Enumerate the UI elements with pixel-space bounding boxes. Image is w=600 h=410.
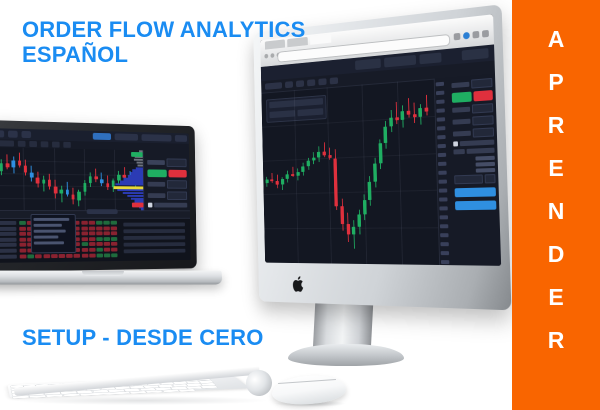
- imac-trading-app: [261, 44, 501, 265]
- candle-body: [312, 157, 315, 161]
- candle-body: [54, 187, 57, 194]
- candlestick: [373, 158, 377, 187]
- candlestick: [106, 175, 110, 190]
- candle-body: [352, 227, 355, 234]
- aprender-letter-3: R: [512, 114, 600, 137]
- candle-body: [307, 161, 310, 166]
- dom-cell: [19, 232, 26, 236]
- candle-body: [36, 178, 40, 184]
- poster-canvas: ORDER FLOW ANALYTICS ESPAÑOL SETUP - DES…: [0, 0, 600, 410]
- price-axis-tick: [439, 206, 447, 210]
- buy-button[interactable]: [452, 92, 472, 103]
- dom-cell: [89, 226, 95, 230]
- candlestick: [30, 165, 34, 181]
- candle-body: [419, 108, 423, 117]
- candlestick: [322, 143, 326, 157]
- price-axis-tick: [439, 180, 447, 184]
- candle-wick: [292, 167, 293, 177]
- candlestick: [265, 176, 268, 186]
- price-axis-tick: [440, 224, 448, 228]
- candlestick: [389, 110, 393, 132]
- price-axis-tick: [440, 215, 448, 219]
- dom-row-label: [0, 249, 17, 253]
- dom-cell: [96, 242, 102, 246]
- dom-row-label: [0, 254, 17, 258]
- aprender-letter-5: N: [512, 200, 600, 223]
- dom-cell: [111, 237, 117, 241]
- candle-body: [328, 155, 331, 159]
- dom-cell: [104, 221, 110, 225]
- candle-body: [18, 161, 22, 165]
- aprender-letter-6: D: [512, 243, 600, 266]
- dom-cell: [89, 242, 95, 246]
- candle-wick: [353, 220, 355, 249]
- dom-cell: [97, 253, 103, 257]
- apple-logo-icon: [293, 275, 306, 293]
- candlestick: [89, 172, 93, 187]
- candlestick: [6, 155, 10, 169]
- candlestick: [18, 153, 22, 167]
- candlestick: [94, 168, 98, 182]
- chart-gridline: [263, 153, 437, 161]
- laptop-lid: [0, 120, 197, 272]
- price-axis-tick: [437, 144, 445, 148]
- dom-cell: [104, 226, 110, 230]
- keyboard-key[interactable]: [30, 395, 46, 398]
- candle-body: [296, 172, 299, 176]
- candlestick: [36, 171, 40, 187]
- headline-secondary: SETUP - DESDE CERO: [22, 326, 264, 351]
- candlestick: [270, 173, 273, 183]
- candlestick: [312, 152, 315, 164]
- imac-order-ticket[interactable]: [266, 95, 327, 123]
- dom-cell: [20, 254, 27, 258]
- candle-wick: [408, 98, 409, 118]
- price-axis-tick: [436, 99, 444, 104]
- candlestick: [60, 186, 64, 202]
- imac-candlestick-chart: [261, 79, 440, 265]
- candlestick: [77, 190, 81, 206]
- dom-cell: [111, 253, 117, 257]
- dom-cell: [51, 254, 58, 258]
- candlestick: [418, 104, 422, 125]
- dom-cell: [111, 226, 117, 230]
- chart-gridline: [23, 148, 25, 211]
- dom-cell: [89, 237, 95, 241]
- keyboard-key[interactable]: [130, 391, 147, 394]
- candlestick: [12, 157, 16, 173]
- candle-body: [395, 117, 399, 121]
- candlestick: [395, 102, 399, 124]
- candlestick: [368, 176, 372, 205]
- dom-cell: [19, 226, 26, 230]
- order-list-row: [124, 242, 186, 246]
- candle-body: [72, 195, 75, 200]
- dom-cell: [59, 254, 66, 258]
- volume-profile-poc-line: [114, 186, 144, 189]
- keyboard-key[interactable]: [46, 394, 62, 397]
- candlestick: [54, 180, 58, 198]
- chart-gridline: [264, 190, 438, 195]
- candlestick: [301, 163, 304, 175]
- candle-body: [48, 180, 52, 187]
- candlestick: [384, 121, 388, 148]
- candle-body: [106, 183, 109, 187]
- candlestick: [0, 159, 3, 175]
- candle-body: [281, 179, 284, 184]
- dom-cell: [89, 221, 95, 225]
- candlestick: [352, 220, 356, 249]
- aprender-letter-8: R: [512, 329, 600, 352]
- dom-cell: [89, 248, 95, 252]
- candlestick: [281, 178, 284, 190]
- candle-body: [407, 111, 411, 115]
- aprender-letter-stack: APRENDER: [512, 28, 600, 372]
- imac-action-button-2[interactable]: [455, 200, 496, 210]
- candle-body: [12, 161, 16, 167]
- dom-cell: [20, 249, 27, 253]
- dom-cell: [104, 248, 110, 252]
- dom-cell: [104, 242, 110, 246]
- keyboard-key[interactable]: [162, 390, 179, 393]
- dom-cell: [89, 253, 95, 257]
- browser-tab-active[interactable]: [310, 34, 331, 45]
- dom-cell: [81, 253, 88, 257]
- aprender-letter-7: E: [512, 286, 600, 309]
- candlestick: [291, 167, 294, 178]
- aprender-letter-1: A: [512, 28, 600, 51]
- candle-body: [60, 190, 63, 194]
- candlestick: [328, 148, 331, 161]
- price-axis-tick: [437, 117, 445, 121]
- price-axis-tick: [441, 251, 449, 255]
- candlestick: [66, 182, 70, 197]
- candle-wick: [414, 103, 415, 123]
- price-axis-tick: [438, 162, 446, 166]
- dom-cell: [81, 232, 88, 236]
- candle-body: [6, 163, 10, 167]
- candle-wick: [43, 176, 44, 192]
- order-list-row: [124, 249, 186, 254]
- laptop-screen: [0, 128, 191, 263]
- dom-cell: [96, 232, 102, 236]
- dom-row-label: [0, 226, 16, 230]
- candle-body: [89, 176, 92, 183]
- dom-cell: [81, 226, 88, 230]
- dom-cell: [96, 221, 102, 225]
- dom-row-label: [0, 243, 17, 247]
- dom-cell: [96, 226, 102, 230]
- candle-body: [317, 152, 320, 157]
- candlestick: [24, 159, 28, 175]
- candle-body: [401, 111, 405, 120]
- price-axis-tick: [439, 197, 447, 201]
- dom-cell: [81, 242, 88, 246]
- candle-wick: [271, 173, 272, 183]
- dom-row-label: [0, 232, 16, 236]
- price-axis-tick: [438, 171, 446, 175]
- candle-body: [276, 181, 279, 185]
- candle-wick: [426, 95, 428, 115]
- keyboard-key[interactable]: [201, 385, 218, 388]
- keyboard-key[interactable]: [178, 389, 195, 392]
- candle-body: [373, 164, 377, 182]
- price-axis-tick: [437, 126, 445, 130]
- laptop-chart-tooltip: [31, 214, 77, 253]
- candlestick: [401, 105, 405, 127]
- apple-wireless-keyboard[interactable]: [10, 362, 278, 410]
- price-axis-tick: [437, 135, 445, 139]
- price-axis-tick: [436, 108, 444, 112]
- dom-cell: [81, 221, 88, 225]
- candlestick: [83, 180, 87, 196]
- price-axis-tick: [440, 242, 448, 246]
- candle-wick: [61, 186, 62, 202]
- keyboard-key[interactable]: [13, 396, 29, 399]
- candlestick: [100, 172, 104, 186]
- candle-body: [425, 108, 429, 112]
- dom-cell: [81, 237, 88, 241]
- candle-body: [94, 176, 97, 179]
- candlestick: [406, 98, 410, 118]
- dom-cell: [19, 221, 26, 225]
- candlestick: [276, 174, 279, 188]
- candlestick: [378, 140, 382, 169]
- candle-body: [42, 180, 45, 184]
- candle-body: [368, 182, 372, 200]
- candlestick: [71, 188, 75, 204]
- order-list-row: [123, 223, 185, 227]
- dom-cell: [81, 248, 88, 252]
- candle-body: [265, 180, 268, 184]
- dom-cell: [43, 254, 50, 258]
- candle-body: [0, 163, 3, 171]
- candle-body: [384, 127, 388, 144]
- dom-cell: [111, 231, 117, 235]
- candle-body: [334, 158, 338, 206]
- price-axis-tick: [439, 188, 447, 192]
- candle-body: [363, 200, 367, 215]
- keyboard-key[interactable]: [146, 390, 163, 393]
- candlestick: [42, 176, 46, 192]
- laptop-order-panel: [143, 150, 190, 211]
- keyboard-key[interactable]: [63, 394, 79, 397]
- candlestick: [340, 199, 344, 231]
- laptop-dom-table: [0, 210, 191, 263]
- candle-body: [286, 174, 289, 179]
- dom-cell: [104, 237, 110, 241]
- candle-body: [77, 192, 80, 200]
- dom-cell: [19, 238, 26, 242]
- candle-wick: [95, 168, 96, 182]
- imac-action-button-1[interactable]: [455, 187, 496, 197]
- candlestick: [307, 157, 310, 169]
- price-axis-tick: [441, 260, 449, 264]
- candlestick: [346, 213, 350, 242]
- candle-body: [323, 151, 326, 155]
- dom-cell: [28, 254, 35, 258]
- candlestick: [424, 95, 428, 116]
- dom-cell: [89, 232, 95, 236]
- dom-cell: [96, 248, 102, 252]
- order-list-row: [123, 236, 185, 240]
- apple-magic-mouse[interactable]: [272, 372, 358, 410]
- candlestick: [296, 168, 299, 180]
- candle-body: [357, 215, 361, 228]
- candle-body: [291, 174, 294, 176]
- order-list-row: [123, 229, 185, 233]
- dom-cell: [111, 242, 117, 246]
- dom-cell: [111, 221, 117, 225]
- keyboard-battery-barrel: [245, 369, 273, 397]
- candle-wick: [396, 102, 397, 124]
- price-axis-tick: [440, 233, 448, 237]
- candlestick: [286, 171, 289, 183]
- sell-button[interactable]: [473, 90, 493, 101]
- candlestick: [412, 103, 416, 124]
- aprender-letter-2: P: [512, 71, 600, 94]
- browser-extensions[interactable]: [454, 30, 489, 41]
- keyboard-key[interactable]: [186, 386, 202, 389]
- dom-cell: [35, 254, 42, 258]
- candle-body: [413, 114, 417, 118]
- candle-body: [340, 206, 344, 224]
- candle-body: [66, 190, 69, 195]
- candle-body: [24, 165, 28, 172]
- macbook-laptop: [0, 120, 232, 300]
- chart-gridline: [327, 87, 332, 263]
- candlestick: [357, 209, 361, 234]
- candle-body: [83, 183, 86, 192]
- laptop-hinge-notch: [82, 271, 124, 276]
- price-axis-tick: [436, 82, 444, 87]
- dom-cell: [74, 253, 81, 257]
- dom-cell: [66, 254, 73, 258]
- candle-body: [378, 143, 382, 163]
- dom-row-label: [0, 238, 17, 242]
- candlestick: [363, 195, 367, 220]
- aprender-banner: APRENDER: [512, 0, 600, 410]
- dom-cell: [20, 243, 27, 247]
- chart-gridline: [362, 85, 368, 264]
- imac-stand-foot: [288, 344, 404, 366]
- candle-body: [100, 179, 103, 183]
- candlestick: [48, 174, 52, 190]
- candle-body: [346, 224, 350, 235]
- candle-body: [30, 172, 34, 177]
- headline-primary: ORDER FLOW ANALYTICS ESPAÑOL: [22, 18, 305, 67]
- price-axis-tick: [438, 153, 446, 157]
- aprender-letter-4: E: [512, 157, 600, 180]
- price-axis-tick: [436, 91, 444, 96]
- candlestick: [317, 146, 321, 162]
- candle-wick: [329, 148, 330, 160]
- dom-row-label: [0, 221, 16, 225]
- imac-order-panel: [434, 74, 501, 266]
- dom-cell: [96, 237, 102, 241]
- dom-cell: [104, 253, 110, 257]
- dom-cell: [111, 248, 117, 252]
- candle-body: [301, 166, 304, 171]
- candle-body: [389, 117, 393, 126]
- dom-cell: [104, 232, 110, 236]
